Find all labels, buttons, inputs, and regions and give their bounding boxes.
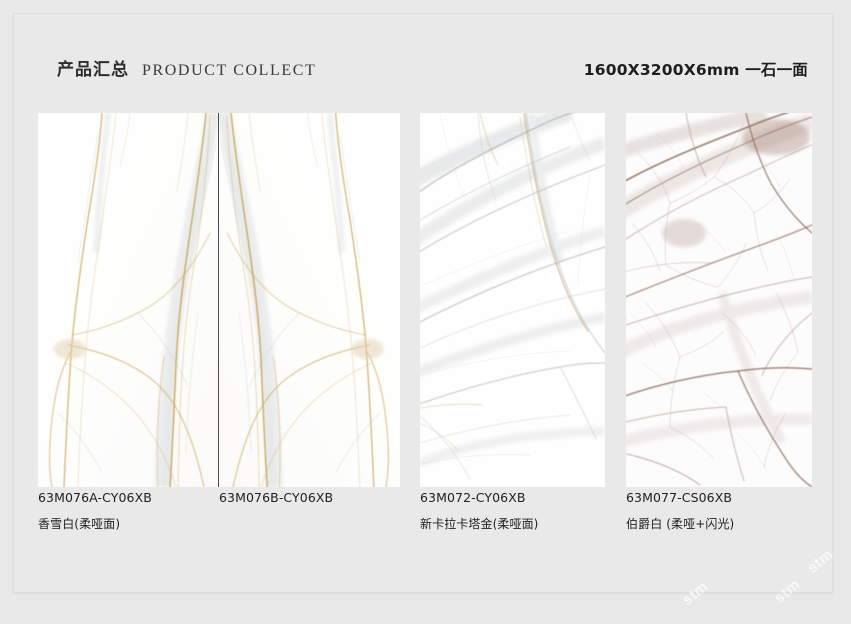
book-match-seam [218, 113, 219, 487]
spec-label: 1600X3200X6mm 一石一面 [584, 58, 808, 80]
slab-caption-3: 63M072-CY06XB 新卡拉卡塔金(柔哑面) [420, 490, 538, 532]
slab-image-3[interactable] [420, 113, 605, 487]
slab-image-4[interactable] [626, 113, 812, 487]
marble-texture-1 [38, 113, 218, 487]
slab-code-3: 63M072-CY06XB [420, 490, 538, 505]
slab-image-1[interactable] [38, 113, 218, 487]
slab-caption-1: 63M076A-CY06XB 香雪白(柔哑面) [38, 490, 152, 532]
slab-name-1: 香雪白(柔哑面) [38, 515, 152, 532]
slab-code-2: 63M076B-CY06XB [219, 490, 333, 505]
marble-texture-3 [420, 113, 605, 487]
page-header-left: 产品汇总 PRODUCT COLLECT [57, 55, 316, 80]
marble-texture-4 [626, 113, 812, 487]
slab-code-4: 63M077-CS06XB [626, 490, 734, 505]
slab-code-1: 63M076A-CY06XB [38, 490, 152, 505]
slab-caption-4: 63M077-CS06XB 伯爵白 (柔哑+闪光) [626, 490, 734, 532]
poster-page: 产品汇总 PRODUCT COLLECT 1600X3200X6mm 一石一面 [0, 0, 851, 624]
page-title-cn: 产品汇总 [57, 55, 129, 80]
page-title-en: PRODUCT COLLECT [142, 62, 316, 80]
slab-image-2[interactable] [219, 113, 400, 487]
slab-name-3: 新卡拉卡塔金(柔哑面) [420, 515, 538, 532]
slab-caption-2: 63M076B-CY06XB [219, 490, 333, 505]
slab-name-4: 伯爵白 (柔哑+闪光) [626, 515, 734, 532]
marble-texture-2 [219, 113, 400, 487]
